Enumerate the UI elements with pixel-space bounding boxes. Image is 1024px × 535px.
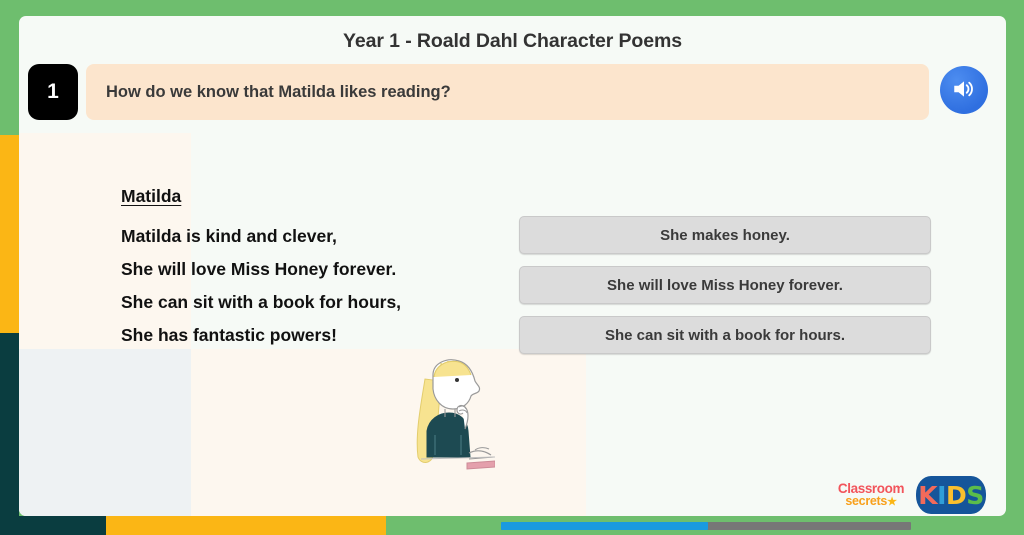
- slide-root: Year 1 - Roald Dahl Character Poems 1 Ho…: [0, 0, 1024, 535]
- question-number-badge: 1: [28, 64, 78, 120]
- bottom-accent-strip-yellow: [106, 516, 386, 535]
- answer-option-3[interactable]: She can sit with a book for hours.: [519, 316, 931, 354]
- progress-bar-fill: [501, 522, 708, 530]
- progress-bar-track[interactable]: [501, 522, 911, 530]
- classroom-secrets-line1: Classroom: [834, 482, 908, 496]
- poem-line-3: She can sit with a book for hours,: [121, 286, 521, 319]
- audio-play-button[interactable]: [940, 66, 988, 114]
- speaker-audio-icon: [951, 76, 977, 105]
- classroom-secrets-line2: secrets★: [834, 495, 908, 508]
- kids-letter-k: K: [918, 481, 937, 510]
- poem-line-1: Matilda is kind and clever,: [121, 220, 521, 253]
- bottom-accent-strip-teal: [0, 516, 106, 535]
- classroom-secrets-logo: Classroom secrets★: [834, 482, 908, 509]
- answer-option-1[interactable]: She makes honey.: [519, 216, 931, 254]
- branding-logos: Classroom secrets★ KIDS: [834, 476, 986, 514]
- page-title: Year 1 - Roald Dahl Character Poems: [19, 30, 1006, 53]
- question-bar: How do we know that Matilda likes readin…: [86, 64, 929, 120]
- kids-logo: KIDS: [916, 476, 986, 514]
- kids-letter-i: I: [937, 481, 946, 510]
- question-text: How do we know that Matilda likes readin…: [106, 83, 451, 102]
- answer-options: She makes honey. She will love Miss Hone…: [519, 216, 931, 366]
- poem-block: Matilda Matilda is kind and clever, She …: [121, 186, 521, 352]
- panel-cream-bottom-middle: [191, 349, 586, 516]
- poem-line-2: She will love Miss Honey forever.: [121, 253, 521, 286]
- slide-card: Year 1 - Roald Dahl Character Poems 1 Ho…: [19, 16, 1006, 516]
- poem-title: Matilda: [121, 186, 521, 207]
- kids-letter-d: D: [946, 481, 966, 510]
- star-icon: ★: [887, 496, 897, 508]
- left-accent-strip-teal: [0, 333, 19, 535]
- poem-line-4: She has fantastic powers!: [121, 319, 521, 352]
- panel-grey-bottom-left: [19, 349, 191, 516]
- kids-letter-s: S: [966, 481, 984, 510]
- matilda-reading-illustration: [391, 349, 495, 479]
- left-accent-strip-yellow: [0, 135, 19, 333]
- answer-option-2[interactable]: She will love Miss Honey forever.: [519, 266, 931, 304]
